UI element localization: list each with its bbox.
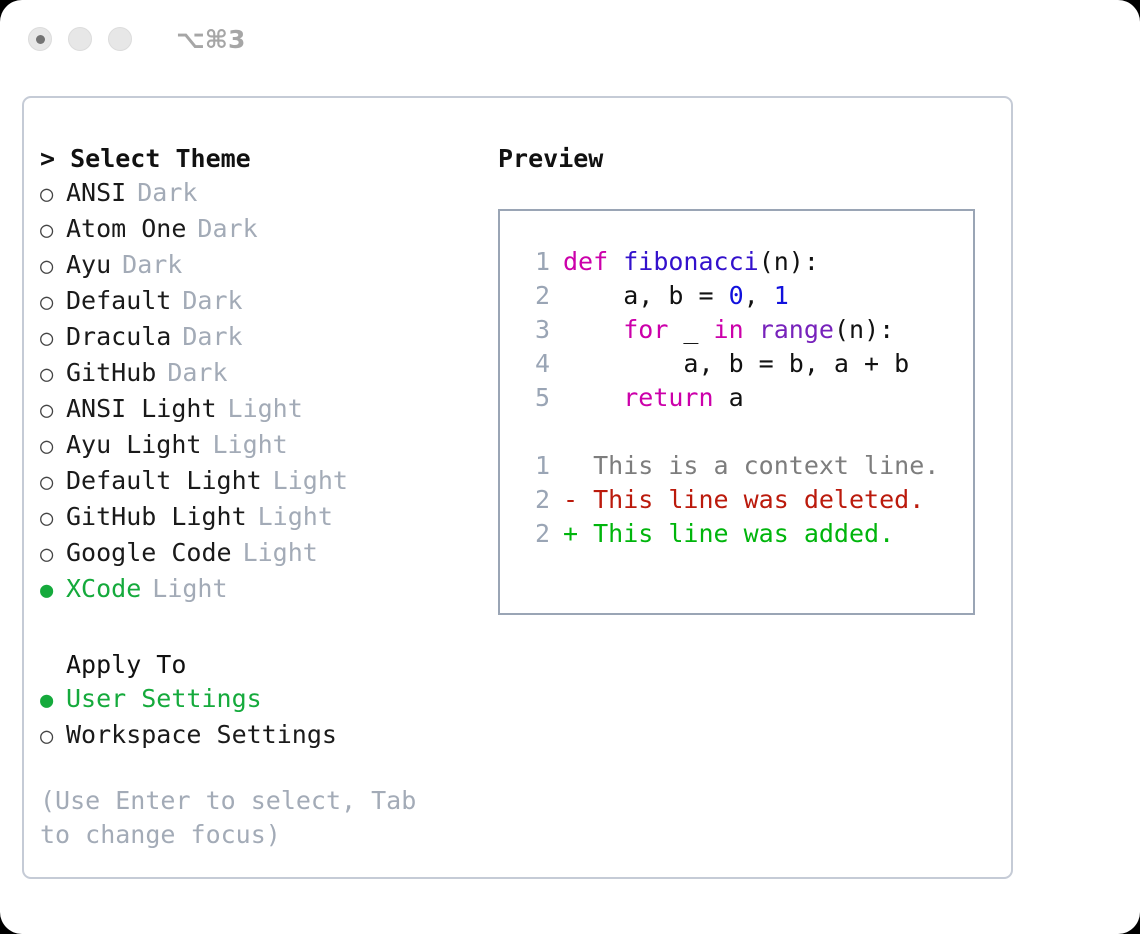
code-line: 2 a, b = 0, 1 (516, 279, 973, 313)
radio-unselected-icon[interactable]: ○ (40, 178, 66, 212)
window-dot-2[interactable] (68, 27, 92, 51)
theme-list-item[interactable]: ○GitHubDark (40, 356, 498, 392)
theme-variant-label: Dark (122, 248, 182, 282)
diff-line: 2- This line was deleted. (516, 483, 973, 517)
radio-unselected-icon[interactable]: ○ (40, 250, 66, 284)
code-line: 5 return a (516, 381, 973, 415)
radio-selected-icon[interactable]: ● (40, 684, 66, 718)
theme-variant-label: Light (152, 572, 227, 606)
code-line-content: for _ in range(n): (563, 313, 894, 347)
code-token-kw: return (623, 383, 713, 412)
theme-list[interactable]: ○ANSIDark○Atom OneDark○AyuDark○DefaultDa… (40, 176, 498, 608)
radio-unselected-icon[interactable]: ○ (40, 322, 66, 356)
theme-variant-label: Dark (182, 320, 242, 354)
code-token-plain: a (714, 383, 744, 412)
theme-list-item[interactable]: ○Google CodeLight (40, 536, 498, 572)
theme-name-label: Ayu (66, 248, 111, 282)
code-token-kw: def (563, 247, 608, 276)
theme-variant-label: Light (212, 428, 287, 462)
radio-unselected-icon[interactable]: ○ (40, 358, 66, 392)
code-token-plain: (n): (759, 247, 819, 276)
recording-dot-inner (36, 35, 45, 44)
radio-unselected-icon[interactable]: ○ (40, 538, 66, 572)
apply-to-label: User Settings (66, 682, 262, 716)
theme-name-label: GitHub Light (66, 500, 247, 534)
theme-variant-label: Dark (167, 356, 227, 390)
theme-name-label: XCode (66, 572, 141, 606)
radio-unselected-icon[interactable]: ○ (40, 214, 66, 248)
preview-box: 1def fibonacci(n):2 a, b = 0, 13 for _ i… (498, 209, 975, 615)
preview-column: Preview 1def fibonacci(n):2 a, b = 0, 13… (498, 142, 1011, 852)
code-line-content: a, b = b, a + b (563, 347, 909, 381)
code-token-bi: range (759, 315, 834, 344)
diff-marker: - (563, 483, 578, 517)
code-line-content: return a (563, 381, 744, 415)
radio-unselected-icon[interactable]: ○ (40, 502, 66, 536)
theme-variant-label: Light (243, 536, 318, 570)
theme-variant-label: Dark (182, 284, 242, 318)
code-token-plain: _ (668, 315, 713, 344)
code-token-fn: fibonacci (623, 247, 758, 276)
code-token-plain: a, b = b, a + b (563, 349, 909, 378)
radio-unselected-icon[interactable]: ○ (40, 720, 66, 754)
theme-variant-label: Dark (137, 176, 197, 210)
diff-sample: 1 This is a context line.2- This line wa… (516, 449, 973, 551)
theme-list-item[interactable]: ○DraculaDark (40, 320, 498, 356)
code-token-plain (563, 383, 623, 412)
keyboard-hint-text: (Use Enter to select, Tab to change focu… (40, 784, 460, 852)
hint-spacer (40, 754, 498, 784)
diff-line: 2+ This line was added. (516, 517, 973, 551)
theme-name-label: Dracula (66, 320, 171, 354)
diff-line-number: 2 (516, 483, 550, 517)
apply-to-label: Workspace Settings (66, 718, 337, 752)
code-token-kw: in (714, 315, 744, 344)
radio-unselected-icon[interactable]: ○ (40, 430, 66, 464)
diff-line-text: This line was added. (578, 517, 894, 551)
code-token-plain (744, 315, 759, 344)
title-bar: ⌥⌘3 (0, 0, 1140, 78)
code-token-plain: a, b = (563, 281, 729, 310)
apply-to-option[interactable]: ○Workspace Settings (40, 718, 498, 754)
code-diff-gap (516, 415, 973, 449)
theme-variant-label: Light (228, 392, 303, 426)
select-theme-heading: > Select Theme (40, 142, 498, 176)
theme-name-label: Default (66, 284, 171, 318)
code-line: 4 a, b = b, a + b (516, 347, 973, 381)
diff-marker: + (563, 517, 578, 551)
theme-name-label: ANSI Light (66, 392, 217, 426)
theme-list-item[interactable]: ●XCodeLight (40, 572, 498, 608)
theme-picker-panel: > Select Theme ○ANSIDark○Atom OneDark○Ay… (22, 96, 1013, 879)
radio-selected-icon[interactable]: ● (40, 574, 66, 608)
theme-list-item[interactable]: ○ANSI LightLight (40, 392, 498, 428)
panel-columns: > Select Theme ○ANSIDark○Atom OneDark○Ay… (24, 98, 1011, 852)
radio-unselected-icon[interactable]: ○ (40, 394, 66, 428)
radio-unselected-icon[interactable]: ○ (40, 466, 66, 500)
diff-marker (563, 449, 578, 483)
keyboard-shortcut-label: ⌥⌘3 (176, 25, 245, 54)
theme-name-label: Default Light (66, 464, 262, 498)
preview-heading: Preview (498, 142, 1011, 176)
theme-variant-label: Dark (197, 212, 257, 246)
code-line: 1def fibonacci(n): (516, 245, 973, 279)
apply-to-option[interactable]: ●User Settings (40, 682, 498, 718)
code-line-content: def fibonacci(n): (563, 245, 819, 279)
code-line-number: 3 (516, 313, 550, 347)
code-line-number: 2 (516, 279, 550, 313)
theme-list-item[interactable]: ○GitHub LightLight (40, 500, 498, 536)
code-token-kw: for (623, 315, 668, 344)
theme-list-item[interactable]: ○DefaultDark (40, 284, 498, 320)
apply-to-heading: Apply To (40, 648, 498, 682)
diff-line-number: 1 (516, 449, 550, 483)
radio-unselected-icon[interactable]: ○ (40, 286, 66, 320)
code-token-plain (563, 315, 623, 344)
theme-selection-column: > Select Theme ○ANSIDark○Atom OneDark○Ay… (40, 142, 498, 852)
code-line-number: 1 (516, 245, 550, 279)
diff-line: 1 This is a context line. (516, 449, 973, 483)
theme-list-item[interactable]: ○Ayu LightLight (40, 428, 498, 464)
diff-line-number: 2 (516, 517, 550, 551)
theme-variant-label: Light (258, 500, 333, 534)
code-line-number: 4 (516, 347, 550, 381)
theme-list-item[interactable]: ○Atom OneDark (40, 212, 498, 248)
code-line: 3 for _ in range(n): (516, 313, 973, 347)
theme-variant-label: Light (273, 464, 348, 498)
code-token-num: 1 (774, 281, 789, 310)
app-window: ⌥⌘3 > Select Theme ○ANSIDark○Atom OneDar… (0, 0, 1140, 934)
theme-list-item[interactable]: ○ANSIDark (40, 176, 498, 212)
recording-indicator-dot[interactable] (28, 27, 52, 51)
apply-to-spacer (40, 608, 498, 648)
theme-list-item[interactable]: ○AyuDark (40, 248, 498, 284)
theme-name-label: Atom One (66, 212, 186, 246)
code-line-number: 5 (516, 381, 550, 415)
theme-name-label: Google Code (66, 536, 232, 570)
diff-line-text: This is a context line. (578, 449, 939, 483)
code-token-plain (608, 247, 623, 276)
diff-line-text: This line was deleted. (578, 483, 924, 517)
window-dot-3[interactable] (108, 27, 132, 51)
theme-name-label: GitHub (66, 356, 156, 390)
apply-to-list[interactable]: ●User Settings○Workspace Settings (40, 682, 498, 754)
code-token-plain: , (744, 281, 774, 310)
code-token-plain: (n): (834, 315, 894, 344)
theme-name-label: Ayu Light (66, 428, 201, 462)
theme-list-item[interactable]: ○Default LightLight (40, 464, 498, 500)
code-token-num: 0 (729, 281, 744, 310)
code-line-content: a, b = 0, 1 (563, 279, 789, 313)
code-sample: 1def fibonacci(n):2 a, b = 0, 13 for _ i… (516, 245, 973, 415)
theme-name-label: ANSI (66, 176, 126, 210)
